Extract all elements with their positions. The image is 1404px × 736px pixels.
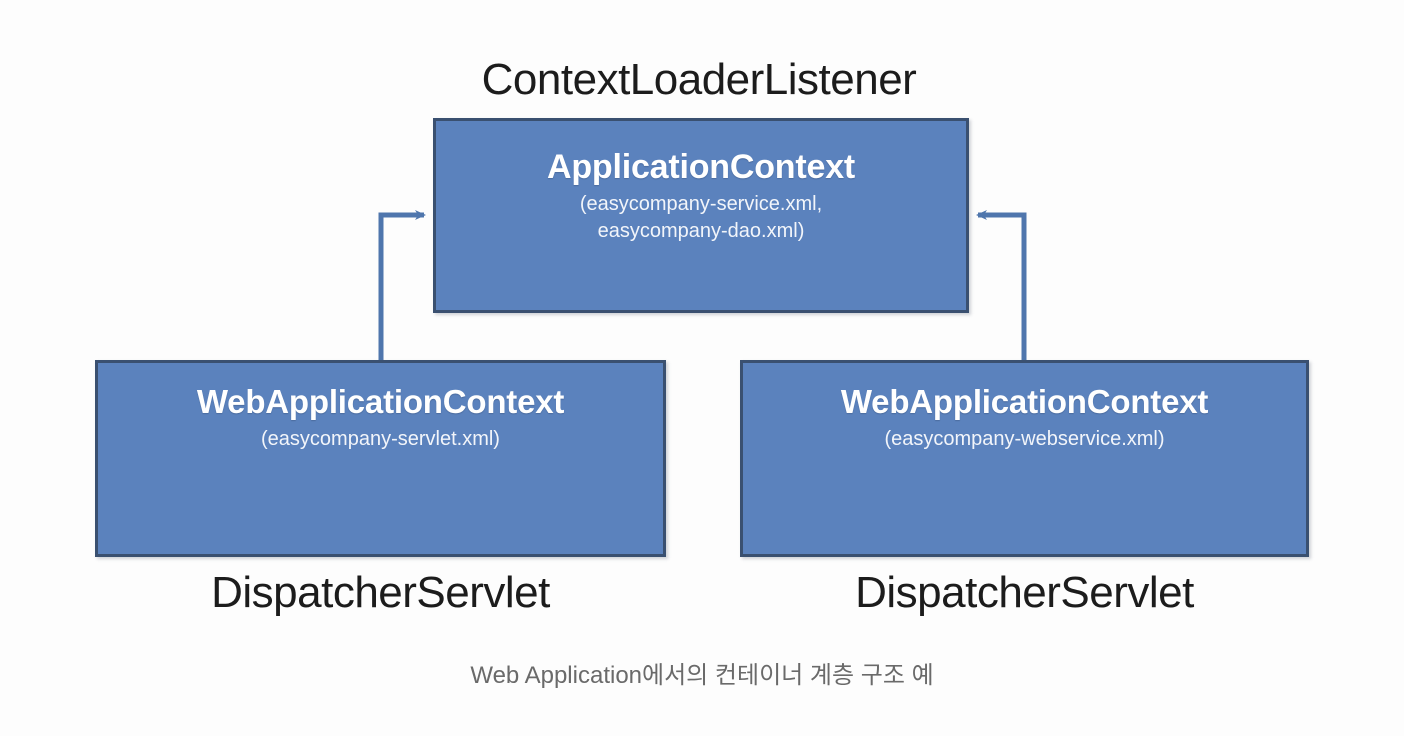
node-web-application-context-servlet-subtitle: (easycompany-servlet.xml): [98, 426, 663, 452]
node-web-application-context-webservice-subtitle: (easycompany-webservice.xml): [743, 426, 1306, 452]
node-application-context-subtitle-line1: (easycompany-service.xml,: [436, 191, 966, 217]
context-loader-listener-label: ContextLoaderListener: [0, 55, 1401, 105]
connector-left-child-to-parent: [381, 215, 424, 360]
node-web-application-context-webservice-title: WebApplicationContext: [743, 383, 1306, 422]
node-web-application-context-webservice[interactable]: WebApplicationContext (easycompany-webse…: [740, 360, 1309, 557]
diagram-canvas: ContextLoaderListener ApplicationContext…: [0, 0, 1404, 736]
context-loader-listener-text: ContextLoaderListener: [482, 55, 917, 105]
node-web-application-context-servlet[interactable]: WebApplicationContext (easycompany-servl…: [95, 360, 666, 557]
node-application-context[interactable]: ApplicationContext (easycompany-service.…: [433, 118, 969, 313]
figure-caption: Web Application에서의 컨테이너 계층 구조 예: [0, 655, 1404, 690]
node-web-application-context-servlet-title: WebApplicationContext: [98, 383, 663, 422]
node-application-context-title: ApplicationContext: [436, 147, 966, 187]
dispatcher-servlet-label-right: DispatcherServlet: [740, 568, 1309, 618]
node-application-context-subtitle-line2: easycompany-dao.xml): [436, 218, 966, 244]
dispatcher-servlet-label-left: DispatcherServlet: [95, 568, 666, 618]
connector-right-child-to-parent: [978, 215, 1024, 360]
